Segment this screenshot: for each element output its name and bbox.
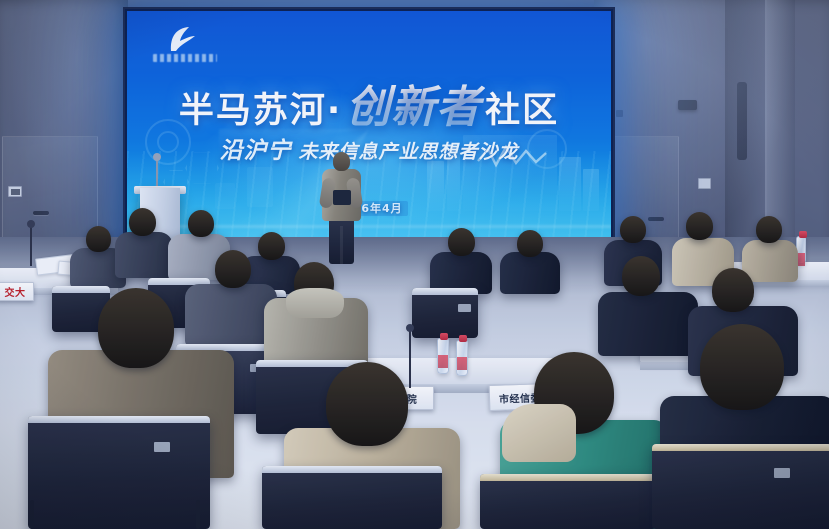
chair-rim	[262, 466, 442, 473]
person-head	[98, 288, 174, 368]
audience-member	[500, 230, 560, 294]
person-head	[622, 256, 660, 296]
person-head	[712, 268, 754, 312]
screen-title: 半马苏河·创新者社区	[127, 71, 611, 135]
person-scarf	[502, 404, 576, 462]
audience-member	[430, 228, 492, 294]
person-head	[686, 212, 713, 240]
chair-leg	[30, 500, 34, 529]
chair[interactable]	[652, 444, 829, 529]
person-head	[700, 324, 784, 410]
right-light-switch	[698, 178, 711, 189]
person-head	[86, 226, 111, 252]
presenter-head	[333, 152, 350, 171]
conference-room-photo: 半马苏河·创新者社区 沿沪宁未来信息产业思想者沙龙 2026年4月 交大	[0, 0, 829, 529]
organization-logo	[153, 25, 217, 69]
person-head	[517, 230, 543, 257]
chair[interactable]	[412, 288, 478, 338]
light-switch	[8, 186, 22, 197]
wall-fixture	[678, 100, 697, 110]
presenter-legs	[329, 218, 354, 264]
chair-tag	[458, 304, 471, 312]
podium-microphone	[156, 158, 158, 188]
audience-member	[115, 208, 173, 278]
name-placard-text: 交大	[5, 284, 26, 299]
presenter-held-object	[333, 190, 351, 205]
audience-member	[264, 262, 368, 366]
screen-subtitle: 沿沪宁未来信息产业思想者沙龙	[127, 131, 611, 165]
logo-mark-icon	[167, 25, 197, 53]
chair[interactable]	[28, 416, 210, 529]
wall-marker	[616, 110, 623, 117]
person-head	[448, 228, 475, 256]
chair-rim	[480, 474, 656, 481]
person-head	[756, 216, 782, 243]
person-hood	[286, 288, 344, 318]
logo-wordmark	[153, 54, 217, 62]
title-part-2: 创新者	[342, 82, 485, 133]
chair-leg	[196, 500, 200, 529]
person-torso	[115, 232, 173, 278]
chair-tag	[774, 468, 790, 478]
subtitle-lead: 沿沪宁	[219, 137, 291, 164]
title-part-1: 半马苏河·	[179, 91, 342, 131]
person-head	[188, 210, 214, 237]
name-placard[interactable]: 交大	[0, 282, 34, 301]
door-handle-icon	[33, 211, 49, 215]
person-head	[129, 208, 156, 236]
presenter	[321, 152, 361, 264]
person-head	[326, 362, 408, 446]
title-part-3: 社区	[485, 91, 559, 131]
person-head	[620, 216, 646, 243]
microphone	[30, 226, 32, 266]
chair-rim	[28, 416, 210, 423]
chair-tag	[154, 442, 170, 452]
person-head	[215, 250, 251, 288]
chair[interactable]	[480, 474, 656, 529]
chair[interactable]	[262, 466, 442, 529]
person-torso	[500, 252, 560, 294]
chair-rim	[652, 444, 829, 451]
chair-rim	[412, 288, 478, 295]
wall-strip	[737, 82, 747, 160]
